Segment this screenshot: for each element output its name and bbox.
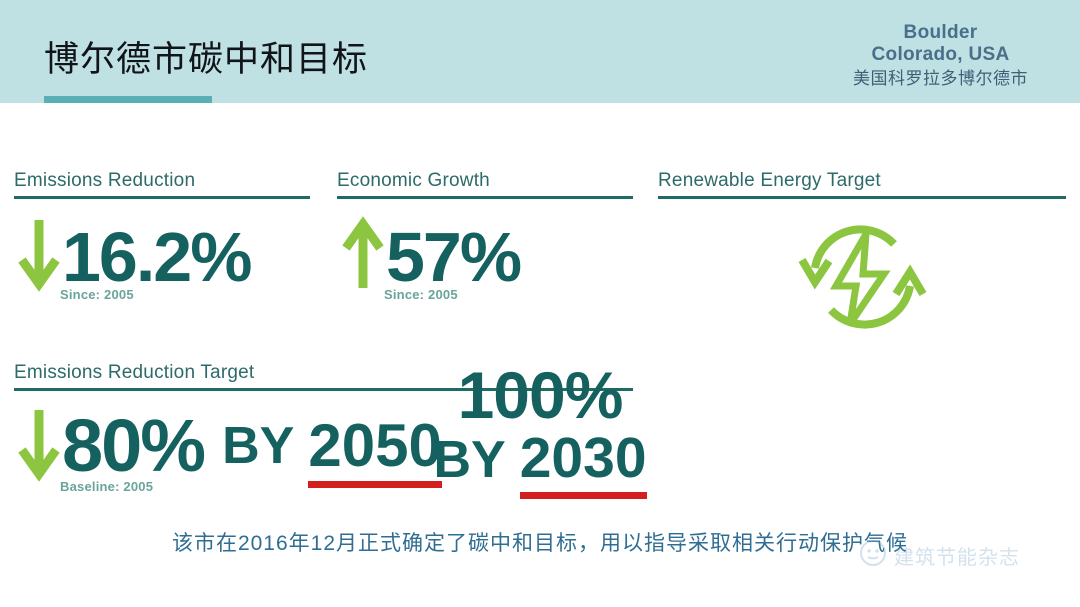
arrow-down-icon — [16, 216, 62, 297]
renewable-energy-icon — [790, 212, 935, 347]
renewable-by-word: BY — [433, 434, 505, 486]
renewable-percent: 100% — [0, 362, 1080, 428]
location-cn: 美国科罗拉多博尔德市 — [853, 69, 1028, 89]
location-en-line2: Colorado, USA — [853, 44, 1028, 66]
renewable-by-row: BY 2030 — [0, 430, 1080, 487]
section-label-economic-growth: Economic Growth — [337, 170, 490, 192]
slide-caption: 该市在2016年12月正式确定了碳中和目标，用以指导采取相关行动保护气候 — [0, 527, 1080, 557]
stat-note-emissions-reduction: Since: 2005 — [60, 287, 134, 302]
page-title: 博尔德市碳中和目标 — [44, 31, 368, 82]
title-accent-bar — [44, 96, 212, 103]
stat-economic-growth: 57% — [340, 216, 520, 297]
arrow-up-icon — [340, 216, 386, 297]
slide-header: 博尔德市碳中和目标 Boulder Colorado, USA 美国科罗拉多博尔… — [0, 0, 1080, 103]
stat-emissions-reduction: 16.2% — [16, 216, 250, 297]
renewable-year-text: 2030 — [520, 426, 647, 490]
stat-note-economic-growth: Since: 2005 — [384, 287, 458, 302]
section-label-emissions-reduction: Emissions Reduction — [14, 170, 195, 192]
location-block: Boulder Colorado, USA 美国科罗拉多博尔德市 — [853, 22, 1028, 89]
divider-economic-growth — [337, 196, 633, 199]
section-label-renewable-energy-target: Renewable Energy Target — [658, 170, 881, 192]
stat-value-emissions-reduction: 16.2% — [62, 222, 250, 292]
slide-root: 博尔德市碳中和目标 Boulder Colorado, USA 美国科罗拉多博尔… — [0, 0, 1080, 607]
location-en-line1: Boulder — [853, 22, 1028, 44]
renewable-year: 2030 — [520, 430, 647, 487]
divider-emissions-reduction — [14, 196, 310, 199]
stat-value-economic-growth: 57% — [386, 222, 520, 292]
divider-renewable-energy-target — [658, 196, 1066, 199]
renewable-year-underline — [520, 492, 647, 499]
